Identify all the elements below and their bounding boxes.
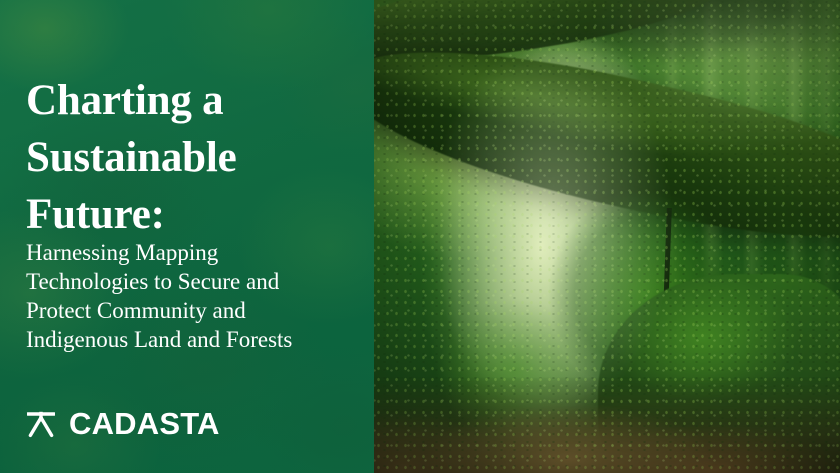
cadasta-wordmark: CADASTA: [69, 408, 220, 439]
headline: Charting a Sustainable Future:: [26, 72, 356, 243]
headline-line: Future:: [26, 186, 356, 243]
cadasta-tent-mark-icon: [24, 406, 58, 440]
subheadline: Harnessing Mapping Technologies to Secur…: [26, 238, 362, 354]
cadasta-promo-banner: Charting a Sustainable Future: Harnessin…: [0, 0, 840, 473]
subheadline-line: Protect Community and: [26, 296, 362, 325]
subheadline-line: Harnessing Mapping: [26, 238, 362, 267]
photo-vignette: [374, 0, 840, 473]
subheadline-line: Indigenous Land and Forests: [26, 325, 362, 354]
cadasta-logo[interactable]: CADASTA: [24, 406, 220, 440]
rainforest-photo: [374, 0, 840, 473]
headline-line: Sustainable: [26, 129, 356, 186]
subheadline-line: Technologies to Secure and: [26, 267, 362, 296]
headline-line: Charting a: [26, 72, 356, 129]
